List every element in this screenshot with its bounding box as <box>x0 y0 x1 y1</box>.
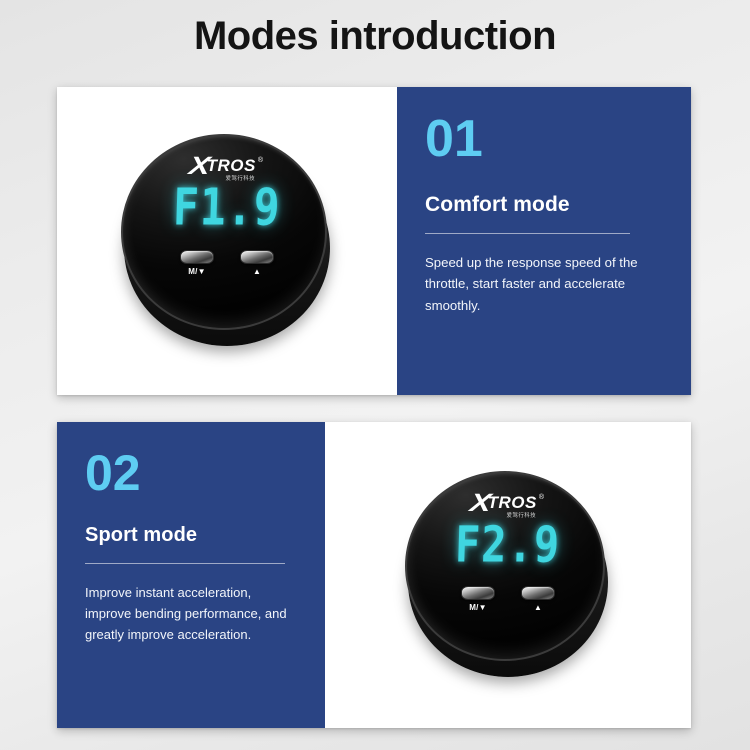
throttle-controller-device-02: X TROS ® 爱驾行科技 F2.9 M/▼ ▲ <box>405 471 611 679</box>
device-button-row: M/▼ ▲ <box>461 586 555 612</box>
mode-card-sport: 02 Sport mode Improve instant accelerati… <box>57 422 691 728</box>
mode-down-button-label: M/▼ <box>469 603 486 612</box>
info-panel-sport: 02 Sport mode Improve instant accelerati… <box>57 422 325 728</box>
mode-down-button-label: M/▼ <box>188 267 205 276</box>
mode-up-button-label: ▲ <box>253 267 261 276</box>
mode-down-button[interactable] <box>461 586 495 600</box>
xtros-logo-x: X <box>469 492 490 514</box>
xtros-logo: X TROS ® 爱驾行科技 <box>191 155 263 181</box>
device-panel-sport: X TROS ® 爱驾行科技 F2.9 M/▼ ▲ <box>325 422 691 728</box>
device-panel-comfort: X TROS ® 爱驾行科技 F1.9 M/▼ ▲ <box>57 87 397 395</box>
mode-description-comfort: Speed up the response speed of the throt… <box>425 252 663 316</box>
mode-number-02: 02 <box>85 448 297 498</box>
device-button-row: M/▼ ▲ <box>180 250 274 276</box>
xtros-logo-x: X <box>188 155 209 177</box>
mode-up-button[interactable] <box>521 586 555 600</box>
mode-up-button[interactable] <box>240 250 274 264</box>
mode-up-button-label: ▲ <box>534 603 542 612</box>
registered-trademark-icon: ® <box>258 156 263 165</box>
mode-name-sport: Sport mode <box>85 524 297 547</box>
info-panel-comfort: 01 Comfort mode Speed up the response sp… <box>397 87 691 395</box>
divider <box>425 233 630 234</box>
page-title: Modes introduction <box>0 14 750 59</box>
mode-down-button[interactable] <box>180 250 214 264</box>
throttle-controller-device-01: X TROS ® 爱驾行科技 F1.9 M/▼ ▲ <box>121 134 333 348</box>
mode-number-01: 01 <box>425 113 663 165</box>
xtros-logo: X TROS ® 爱驾行科技 <box>472 492 544 518</box>
mode-card-comfort: X TROS ® 爱驾行科技 F1.9 M/▼ ▲ <box>57 87 691 395</box>
mode-description-sport: Improve instant acceleration, improve be… <box>85 582 297 645</box>
led-display-value: F2.9 <box>455 520 562 570</box>
divider <box>85 563 285 564</box>
registered-trademark-icon: ® <box>539 493 544 502</box>
mode-name-comfort: Comfort mode <box>425 193 663 217</box>
led-display-value: F1.9 <box>172 183 281 234</box>
